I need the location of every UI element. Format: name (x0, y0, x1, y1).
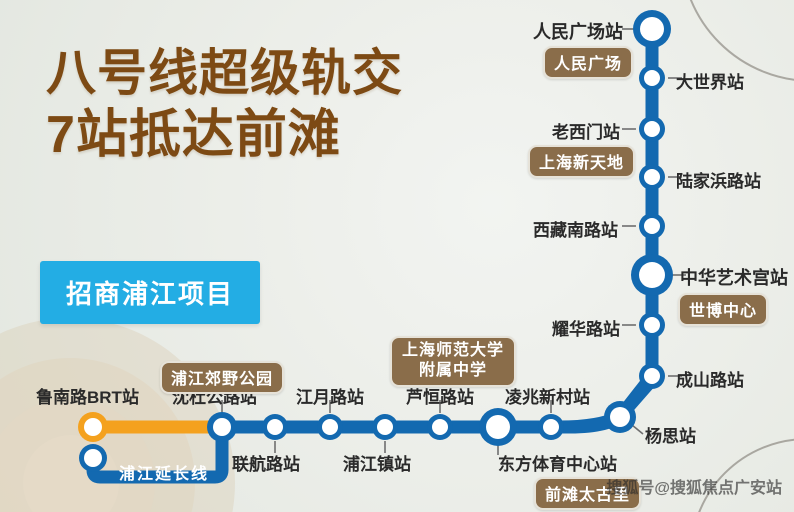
station-tag-line-2: 附属中学 (402, 361, 504, 381)
station-label-lunan-lu-brt: 鲁南路BRT站 (36, 383, 139, 408)
station-label-xizang-nan-lu: 西藏南路站 (533, 216, 618, 241)
watermark: 搜狐号@搜狐焦点广安站 (606, 474, 782, 498)
station-tag-shanghai-xintiandi: 上海新天地 (528, 145, 635, 178)
metro-line-poster: 八号线超级轨交 7站抵达前滩 招商浦江项目 (0, 0, 794, 512)
project-name-badge: 招商浦江项目 (40, 261, 260, 324)
station-label-renmin-guangchang: 人民广场站 (533, 18, 623, 44)
station-tag-shisida-fuzhong: 上海师范大学 附属中学 (390, 336, 516, 387)
station-label-zhonghua-yishugong: 中华艺术宫站 (680, 264, 788, 290)
station-label-yangsi: 杨思站 (645, 422, 696, 447)
station-tag-line-1: 上海师范大学 (402, 342, 504, 359)
station-label-lujiabang-lu: 陆家浜路站 (676, 167, 761, 192)
station-tag-renmin-guangchang: 人民广场 (543, 46, 633, 79)
station-label-lingzhao-xincun: 凌兆新村站 (505, 383, 590, 408)
headline-line-2: 7站抵达前滩 (46, 106, 403, 164)
station-label-jiangyue-lu: 江月路站 (296, 383, 364, 408)
branch-line-label: 浦江延长线 (119, 460, 209, 484)
station-label-yaohua-lu: 耀华路站 (552, 315, 620, 340)
station-label-dashijie: 大世界站 (676, 68, 744, 93)
station-label-pujiang-zhen: 浦江镇站 (343, 450, 411, 475)
station-tag-shibo-zhongxin: 世博中心 (678, 293, 768, 326)
headline-line-1: 八号线超级轨交 (46, 44, 403, 102)
station-label-dongfang-tiyu-zhongxin: 东方体育中心站 (498, 450, 617, 475)
station-label-laoximen: 老西门站 (552, 118, 620, 143)
station-tag-pujiang-jiaoye-gongyuan: 浦江郊野公园 (160, 361, 284, 394)
headline: 八号线超级轨交 7站抵达前滩 (46, 44, 403, 164)
station-label-chengshan-lu: 成山路站 (676, 366, 744, 391)
station-label-lianhang-lu: 联航路站 (232, 450, 300, 475)
